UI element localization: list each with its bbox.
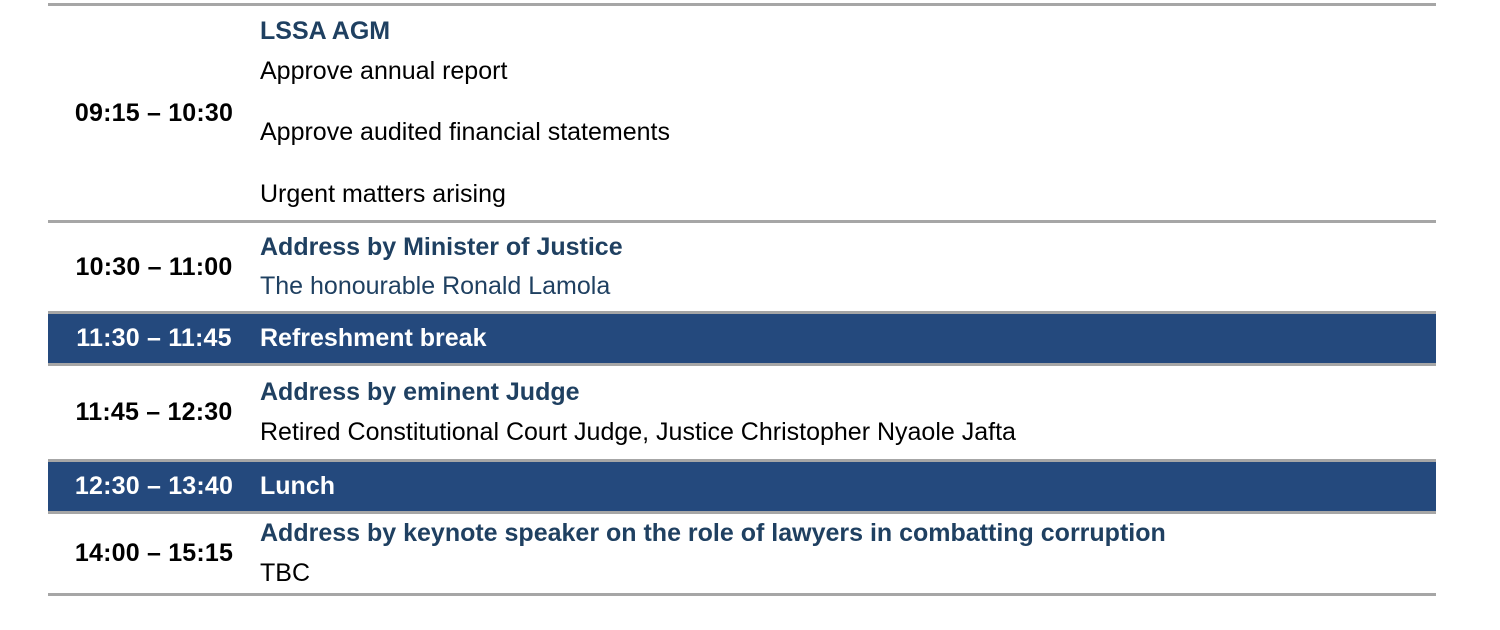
session-detail: Retired Constitutional Court Judge, Just… (260, 416, 1436, 450)
row-time-slot: 12:30 – 13:40 (48, 461, 260, 513)
row-time-slot: 14:00 – 15:15 (48, 513, 260, 595)
session-title: Address by Minister of Justice (260, 231, 1436, 265)
table-row: 12:30 – 13:40 Lunch (48, 461, 1436, 513)
session-title: Address by keynote speaker on the role o… (260, 517, 1436, 551)
table-row: 10:30 – 11:00 Address by Minister of Jus… (48, 222, 1436, 313)
row-description: LSSA AGM Approve annual report Approve a… (260, 5, 1436, 222)
row-time-slot: 10:30 – 11:00 (48, 222, 260, 313)
session-title: Address by eminent Judge (260, 376, 1436, 410)
row-time-slot: 11:30 – 11:45 (48, 313, 260, 365)
row-time-slot: 11:45 – 12:30 (48, 365, 260, 461)
row-description: Address by Minister of Justice The honou… (260, 222, 1436, 313)
table-row: 14:00 – 15:15 Address by keynote speaker… (48, 513, 1436, 595)
agenda-table-container: 09:15 – 10:30 LSSA AGM Approve annual re… (48, 3, 1436, 596)
session-detail: Urgent matters arising (260, 178, 1436, 212)
agenda-table-body: 09:15 – 10:30 LSSA AGM Approve annual re… (48, 5, 1436, 595)
table-row: 11:45 – 12:30 Address by eminent Judge R… (48, 365, 1436, 461)
session-detail: Approve annual report (260, 55, 1436, 89)
agenda-table: 09:15 – 10:30 LSSA AGM Approve annual re… (48, 3, 1436, 596)
session-title: LSSA AGM (260, 15, 1436, 49)
session-detail: TBC (260, 557, 1436, 591)
row-time-slot: 09:15 – 10:30 (48, 5, 260, 222)
row-description: Refreshment break (260, 313, 1436, 365)
session-title: Refreshment break (260, 322, 1436, 356)
row-description: Lunch (260, 461, 1436, 513)
table-row: 11:30 – 11:45 Refreshment break (48, 313, 1436, 365)
session-title: Lunch (260, 470, 1436, 504)
row-description: Address by eminent Judge Retired Constit… (260, 365, 1436, 461)
table-row: 09:15 – 10:30 LSSA AGM Approve annual re… (48, 5, 1436, 222)
session-detail: The honourable Ronald Lamola (260, 270, 1436, 304)
row-description: Address by keynote speaker on the role o… (260, 513, 1436, 595)
session-detail: Approve audited financial statements (260, 116, 1436, 150)
